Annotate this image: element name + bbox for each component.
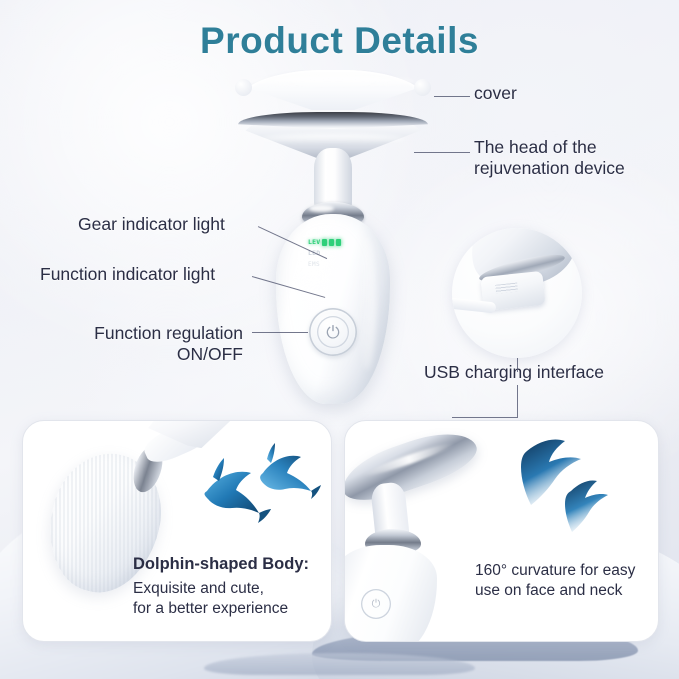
function-indicator-row-secondary: EMS [308, 260, 364, 269]
led-level-label: LEV [308, 238, 320, 247]
card-power-icon: ⏻ [361, 589, 391, 619]
callout-label-function-indicator: Function indicator light [40, 264, 215, 285]
product-details-infographic: Product Details LEV [0, 0, 679, 679]
card-head-device-body [344, 545, 437, 642]
led-tertiary-label: EMS [308, 261, 320, 268]
usb-plug-marking [495, 283, 518, 294]
card-left-text-block: Dolphin-shaped Body: Exquisite and cute,… [133, 555, 319, 619]
feature-card-curvature: ⏻ 160° curvature for easy use on face an… [344, 420, 659, 642]
card-head-bar-image [344, 421, 483, 510]
callout-label-usb: USB charging interface [424, 362, 604, 383]
leader-line-usb-horizontal [452, 417, 518, 418]
usb-charging-inset [452, 228, 582, 358]
dolphin-tail-small [565, 480, 608, 532]
dolphin-illustration-pair [201, 443, 321, 525]
callout-label-cover: cover [474, 83, 517, 104]
dolphin-lower [205, 458, 272, 523]
feature-card-dolphin-body: Dolphin-shaped Body: Exquisite and cute,… [22, 420, 332, 642]
leader-line-usb-bottom [517, 385, 518, 417]
leader-line-function-regulation [252, 332, 308, 333]
gear-bar-3 [336, 239, 341, 246]
leader-line-head [414, 152, 470, 153]
gear-bar-2 [329, 239, 334, 246]
dolphin-upper [260, 443, 321, 499]
power-icon: ⏻ [326, 324, 339, 341]
cover-tip-right [414, 79, 431, 96]
main-device-illustration: LEV LED EMS ⏻ [232, 62, 432, 412]
page-title: Product Details [0, 20, 679, 62]
leader-line-cover [434, 96, 470, 97]
dolphin-tail-illustration-pair [505, 435, 635, 535]
callout-label-gear-indicator: Gear indicator light [78, 214, 225, 235]
head-gloss [261, 134, 405, 144]
gear-bar-1 [322, 239, 327, 246]
callout-label-function-regulation: Function regulation ON/OFF [28, 323, 243, 366]
power-button[interactable]: ⏻ [309, 308, 357, 356]
card-left-body: Exquisite and cute, for a better experie… [133, 579, 319, 619]
gear-indicator-row: LEV [308, 238, 364, 247]
card-left-heading: Dolphin-shaped Body: [133, 555, 319, 574]
leader-line-usb-top [517, 358, 518, 372]
callout-label-head: The head of the rejuvenation device [474, 137, 625, 180]
chrome-ring-highlight [309, 205, 334, 212]
cover-tip-left [235, 79, 252, 96]
card-right-body: 160° curvature for easy use on face and … [475, 561, 646, 601]
power-button-inner-ring: ⏻ [317, 316, 349, 348]
card-right-text-block: 160° curvature for easy use on face and … [475, 561, 646, 601]
